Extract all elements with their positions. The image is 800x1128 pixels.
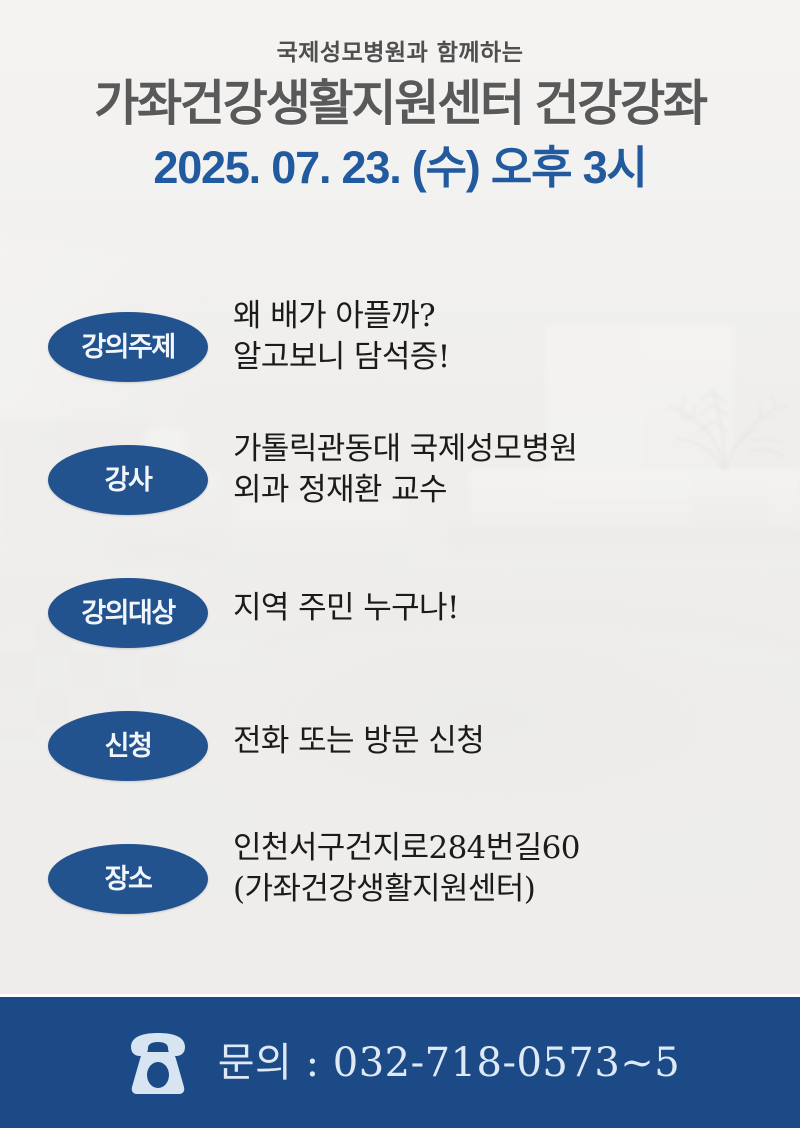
pill-label-text: 강의대상: [81, 600, 174, 627]
label-pill-lecturer: 강사: [48, 445, 208, 515]
info-line: (가좌건강생활지원센터): [233, 869, 780, 910]
poster: 국제성모병원과 함께하는 가좌건강생활지원센터 건강강좌 2025. 07. 2…: [0, 0, 800, 1128]
eyebrow-text: 국제성모병원과 함께하는: [0, 40, 800, 65]
info-row-application: 신청 전화 또는 방문 신청: [0, 699, 800, 832]
info-value-venue: 인천서구건지로284번길60 (가좌건강생활지원센터): [233, 828, 780, 910]
info-row-audience: 강의대상 지역 주민 누구나!: [0, 566, 800, 699]
info-line: 알고보니 담석증!: [233, 337, 780, 378]
poster-header: 국제성모병원과 함께하는 가좌건강생활지원센터 건강강좌 2025. 07. 2…: [0, 0, 800, 193]
contact-phone-text: 문의 : 032-718-0573~5: [218, 1043, 681, 1083]
info-row-topic: 강의주제 왜 배가 아플까? 알고보니 담석증!: [0, 300, 800, 433]
info-value-lecturer: 가톨릭관동대 국제성모병원 외과 정재환 교수: [233, 429, 780, 511]
info-value-application: 전화 또는 방문 신청: [233, 721, 780, 762]
info-row-lecturer: 강사 가톨릭관동대 국제성모병원 외과 정재환 교수: [0, 433, 800, 566]
pill-label-text: 장소: [105, 866, 152, 893]
info-line: 지역 주민 누구나!: [233, 588, 780, 629]
info-line: 가톨릭관동대 국제성모병원: [233, 429, 780, 470]
info-line: 왜 배가 아플까?: [233, 296, 780, 337]
label-pill-application: 신청: [48, 711, 208, 781]
contact-footer: 문의 : 032-718-0573~5: [0, 997, 800, 1128]
label-pill-audience: 강의대상: [48, 578, 208, 648]
pill-label-text: 신청: [105, 733, 152, 760]
event-datetime: 2025. 07. 23. (수) 오후 3시: [0, 143, 800, 193]
info-row-venue: 장소 인천서구건지로284번길60 (가좌건강생활지원센터): [0, 832, 800, 952]
pill-label-text: 강의주제: [81, 334, 174, 361]
page-title: 가좌건강생활지원센터 건강강좌: [0, 79, 800, 131]
label-pill-topic: 강의주제: [48, 312, 208, 382]
info-line: 인천서구건지로284번길60: [233, 828, 780, 869]
info-value-audience: 지역 주민 누구나!: [233, 588, 780, 629]
info-value-topic: 왜 배가 아플까? 알고보니 담석증!: [233, 296, 780, 378]
label-pill-venue: 장소: [48, 844, 208, 914]
telephone-icon: [120, 1031, 196, 1097]
pill-label-text: 강사: [105, 467, 152, 494]
info-line: 전화 또는 방문 신청: [233, 721, 780, 762]
info-line: 외과 정재환 교수: [233, 470, 780, 511]
info-rows: 강의주제 왜 배가 아플까? 알고보니 담석증! 강사 가톨릭관동대 국제성모병…: [0, 300, 800, 952]
